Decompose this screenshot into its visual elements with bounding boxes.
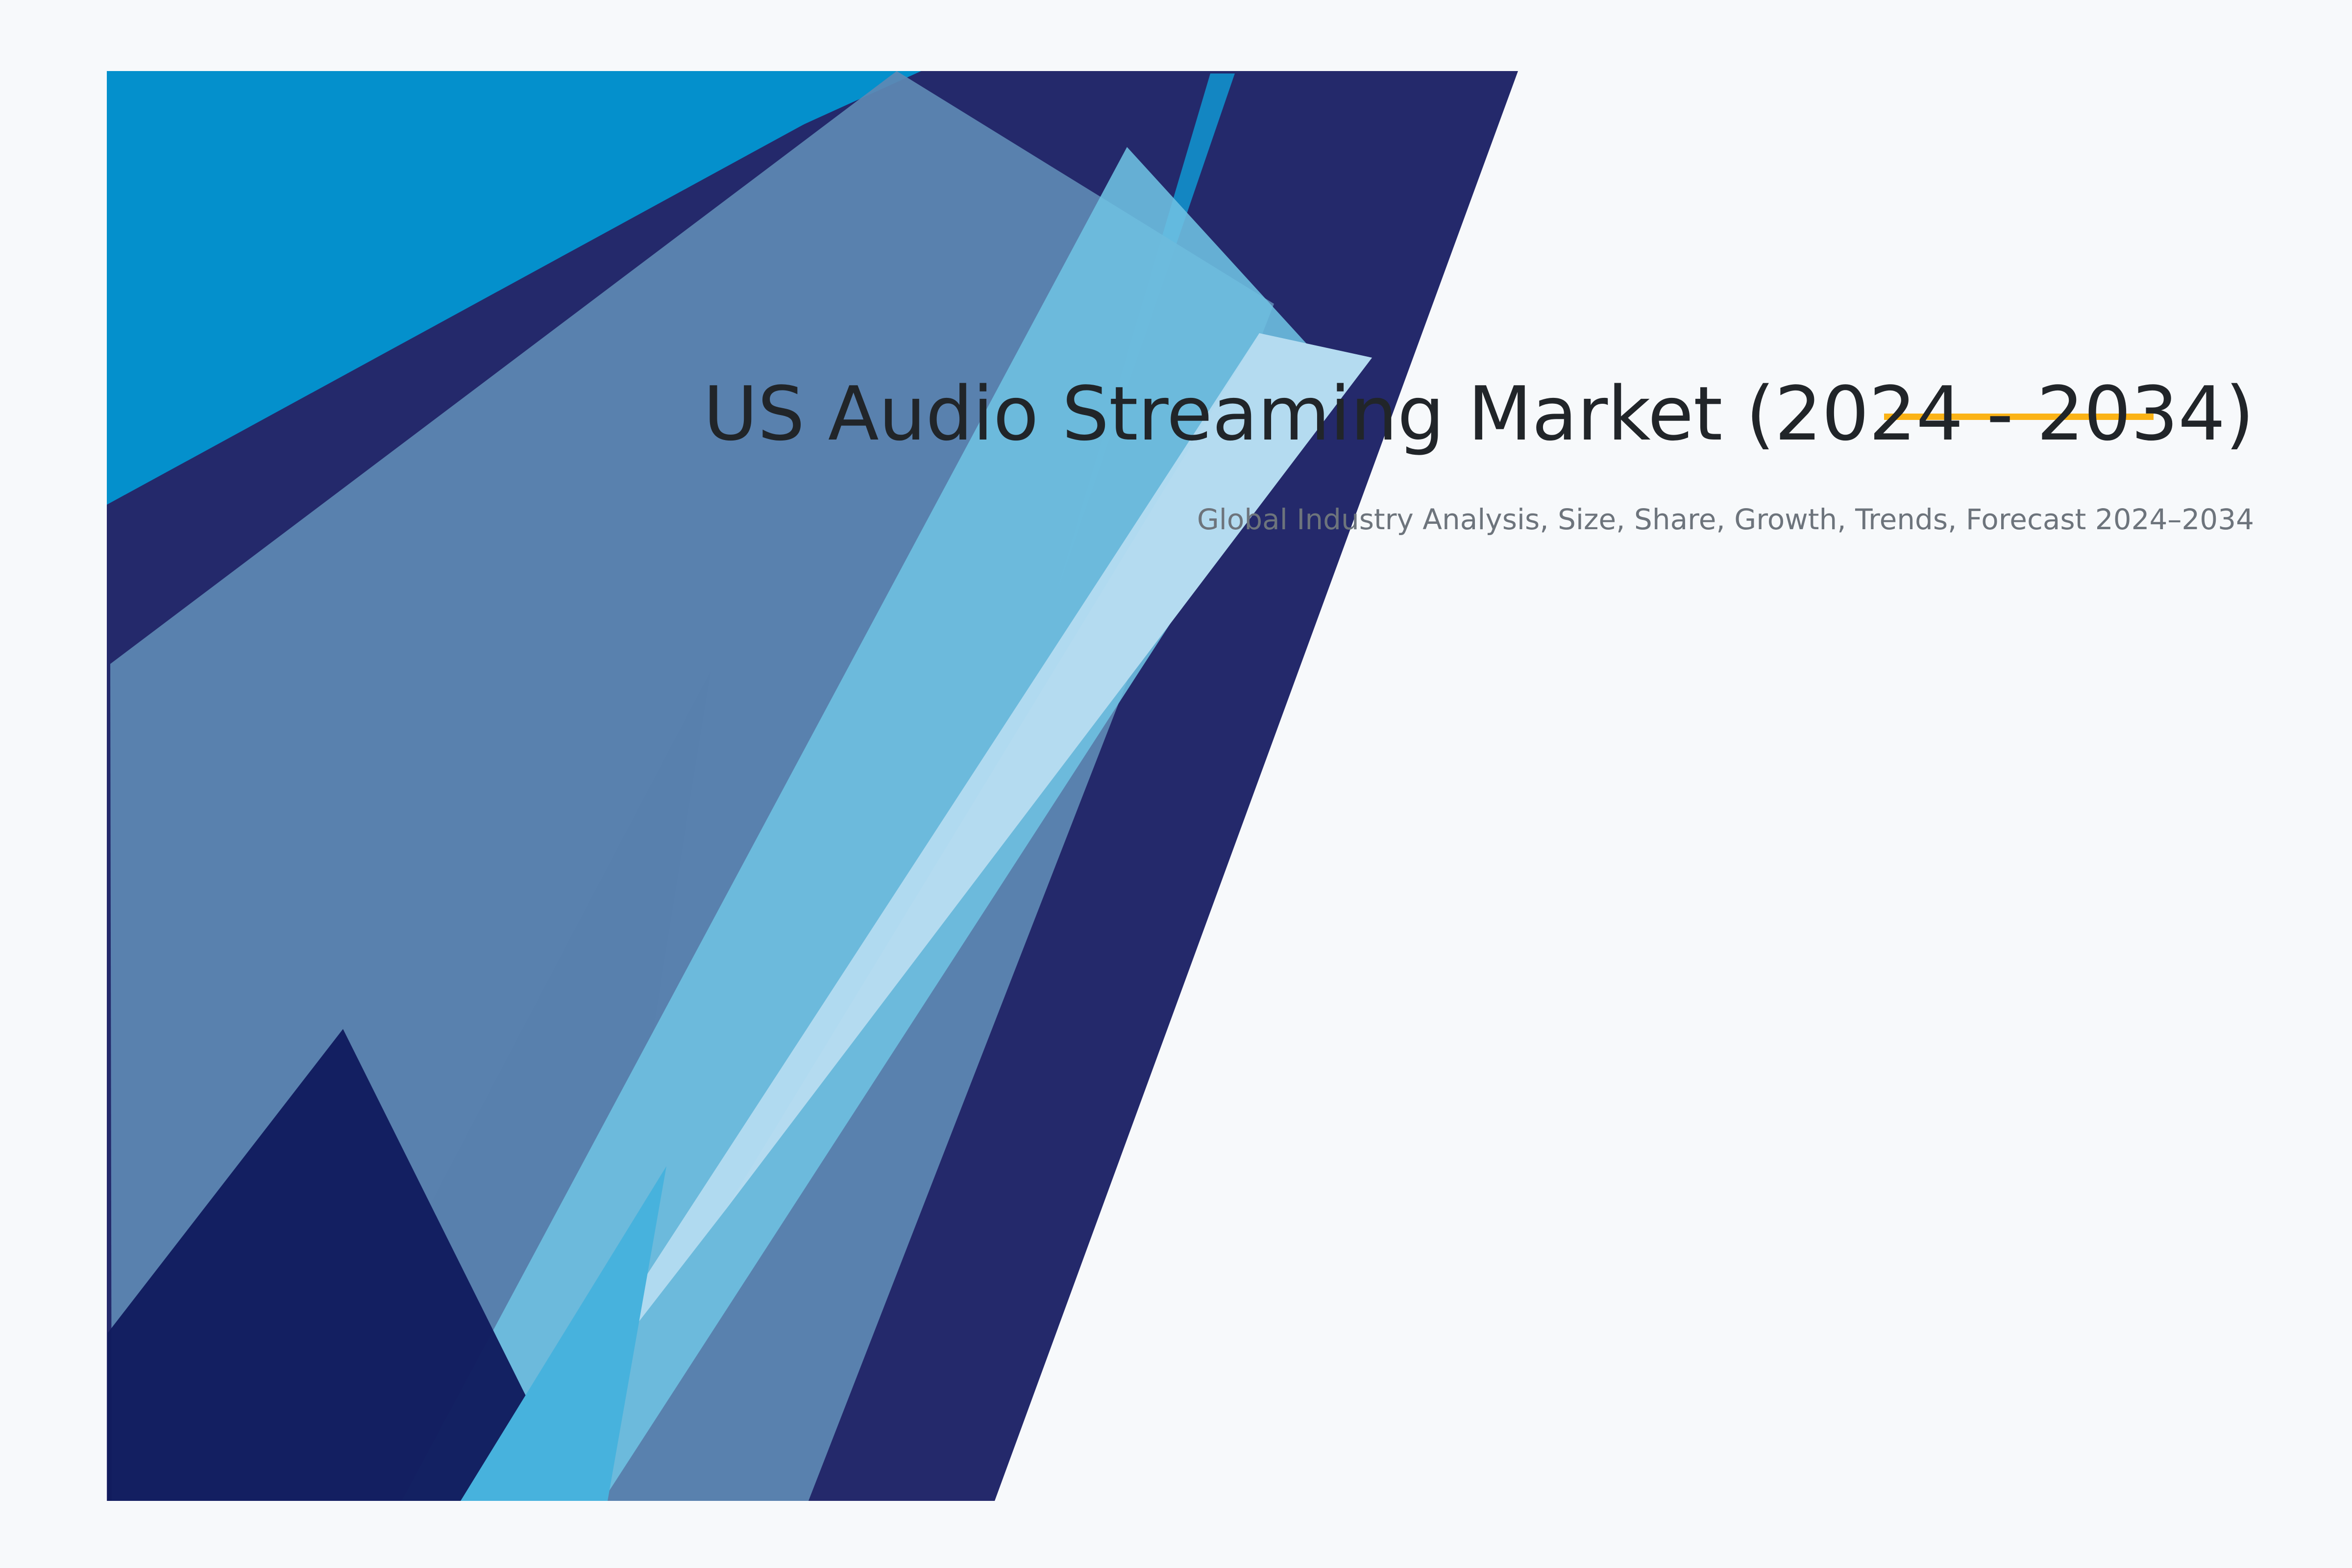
shape-deep-navy-spike (274, 671, 710, 1501)
shape-sky-sliver-bottom (461, 1166, 666, 1501)
shape-cyan-base (107, 71, 1518, 1501)
shape-sky-blue-beam (402, 147, 1333, 1501)
page-subtitle: Global Industry Analysis, Size, Share, G… (696, 456, 2254, 538)
shape-navy-main (107, 71, 1518, 1501)
pale-blue-wash-layer (0, 0, 2352, 1568)
title-slide: US Audio Streaming Market (2024 - 2034) … (0, 0, 2352, 1568)
title-wrapper: US Audio Streaming Market (2024 - 2034) (696, 372, 2254, 456)
shape-background-cut-right-2 (1274, 71, 1518, 1501)
page-title: US Audio Streaming Market (2024 - 2034) (696, 372, 2254, 456)
shape-background-cut-right (995, 71, 1518, 1501)
title-text-column: US Audio Streaming Market (2024 - 2034) … (696, 372, 2254, 539)
shape-deep-navy-bottom (108, 1029, 578, 1501)
abstract-geometric-artwork (0, 0, 2352, 1568)
shape-steel-blue-quad (110, 71, 1274, 1501)
